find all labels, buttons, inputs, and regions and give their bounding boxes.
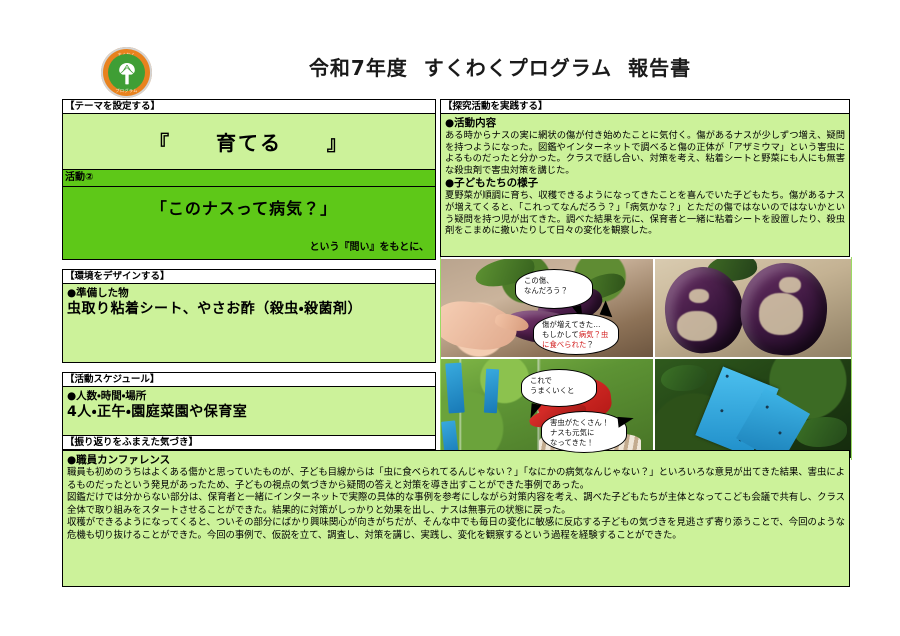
document-header: すくわく プログラム 令和7年度 すくわくプログラム 報告書 — [0, 0, 900, 96]
report-sheet: 【テーマを設定する】 『 育てる 』 活動② 「このナスって病気？」 という『問… — [62, 99, 850, 588]
environment-content: 虫取り粘着シート、やさお酢（殺虫・殺菌剤） — [67, 300, 431, 319]
reflection-bullet-label: ●職員カンファレンス — [67, 454, 845, 467]
bubble-line-3: ？ — [586, 340, 593, 349]
bubble-line-2: もしかして — [542, 330, 579, 339]
bubble-what-is-this-scar: この傷、 なんだろう？ — [515, 269, 593, 309]
theme-statement: 『 育てる 』 — [62, 114, 436, 170]
sticky-trap-shape — [445, 363, 464, 414]
theme-question-text: 「このナスって病気？」 — [63, 195, 425, 219]
bubble-line-1: 傷が増えてきた… — [542, 320, 601, 329]
reflection-paragraph-2: 図鑑だけでは分からない部分は、保育者と一緒にインターネットで実際の具体的な事例を… — [67, 492, 845, 517]
bubble-line-1: これで — [530, 376, 552, 385]
photo-two-damaged-eggplants — [655, 259, 851, 357]
bubble-line-3-highlight: に食べられた — [542, 340, 586, 349]
leaf-shape — [661, 365, 707, 391]
page-title: 令和7年度 すくわくプログラム 報告書 — [180, 52, 820, 81]
bubble-many-pests: 害虫がたくさん！ ナスも元気に なってきた！ — [541, 411, 627, 453]
inquiry-children-bullet-label: ●子どもたちの様子 — [445, 177, 845, 190]
scar-patch — [759, 293, 803, 335]
reflection-paragraph-1: 職員も初めのうちはよくある傷かと思っていたものが、子ども目線からは「虫に食べられ… — [67, 467, 845, 492]
environment-body: ●準備した物 虫取り粘着シート、やさお酢（殺虫・殺菌剤） — [62, 284, 436, 363]
section-header-theme: 【テーマを設定する】 — [62, 99, 436, 114]
schedule-content: 4人・正午・園庭菜園や保育室 — [67, 403, 431, 422]
scar-patch — [677, 311, 717, 341]
bubble-maybe-sick: 傷が増えてきた… もしかして病気？虫 に食べられた？ — [533, 313, 619, 355]
section-header-inquiry: 【探究活動を実践する】 — [440, 99, 850, 114]
inquiry-children-text: 夏野菜が順調に育ち、収穫できるようになってきたことを喜んでいた子どもたち。傷があ… — [445, 190, 845, 236]
theme-question-box: 「このナスって病気？」 という『問い』をもとに、 — [62, 187, 436, 260]
reflection-body: ●職員カンファレンス 職員も初めのうちはよくある傷かと思っていたものが、子ども目… — [62, 450, 850, 587]
inquiry-activity-bullet-label: ●活動内容 — [445, 117, 845, 130]
reflection-section: 【振り返りをふまえた気づき】 ●職員カンファレンス 職員も初めのうちはよくある傷… — [62, 435, 850, 587]
sticky-trap-shape — [484, 369, 499, 414]
section-header-schedule: 【活動スケジュール】 — [62, 372, 436, 387]
tree-icon — [114, 61, 140, 87]
tree-emblem-icon: すくわく プログラム — [101, 47, 152, 98]
logo-arc-bottom-text: プログラム — [101, 88, 152, 94]
environment-bullet-label: ●準備した物 — [67, 287, 431, 300]
photo-collage: この傷、 なんだろう？ 傷が増えてきた… もしかして病気？虫 に食べられた？ こ… — [440, 257, 852, 460]
schedule-bullet-label: ●人数・時間・場所 — [67, 390, 431, 403]
bubble-line-1: この傷、 — [524, 276, 554, 285]
inquiry-body: ●活動内容 ある時からナスの実に網状の傷が付き始めたことに気付く。傷があるナスが… — [440, 114, 850, 257]
bubble-line-3: なってきた！ — [550, 438, 594, 447]
bubble-line-2: なんだろう？ — [524, 286, 568, 295]
left-column: 【テーマを設定する】 『 育てる 』 活動② 「このナスって病気？」 という『問… — [62, 99, 436, 466]
bubble-line-1: 害虫がたくさん！ — [550, 418, 609, 427]
inquiry-activity-text: ある時からナスの実に網状の傷が付き始めたことに気付く。傷があるナスが少しずつ増え… — [445, 130, 845, 176]
right-column: 【探究活動を実践する】 ●活動内容 ある時からナスの実に網状の傷が付き始めたこと… — [440, 99, 850, 257]
scar-patch — [689, 289, 709, 303]
reflection-paragraph-3: 収穫ができるようになってくると、ついその部分にばかり興味関心が向きがちだが、そん… — [67, 517, 845, 542]
bubble-hope-it-works: これで うまくいくと — [521, 369, 597, 407]
theme-question-subtext: という『問い』をもとに、 — [310, 238, 430, 253]
bubble-line-2: うまくいくと — [530, 386, 574, 395]
scar-patch — [779, 277, 801, 293]
bubble-line-2: ナスも元気に — [550, 428, 594, 437]
section-header-environment: 【環境をデザインする】 — [62, 269, 436, 284]
activity-number-tag: 活動② — [62, 170, 436, 187]
bubble-line-2-highlight: 病気？虫 — [579, 330, 609, 339]
section-header-reflection: 【振り返りをふまえた気づき】 — [62, 435, 436, 450]
